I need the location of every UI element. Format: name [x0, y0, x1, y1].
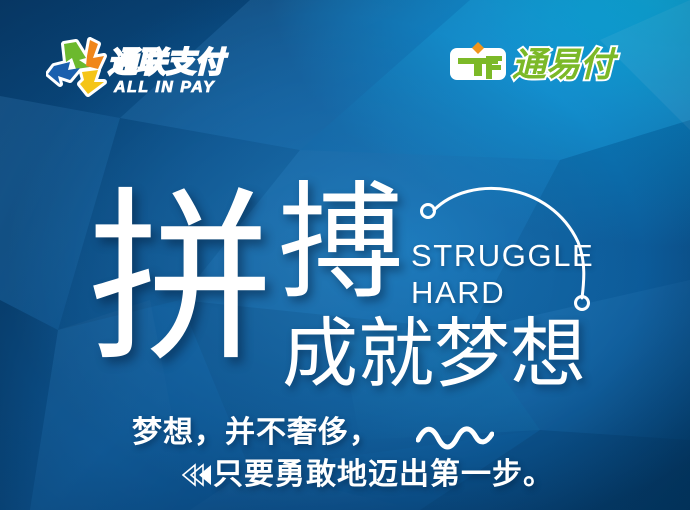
headline-subline: 成就梦想 — [282, 316, 586, 392]
tongyifu-logo: 通易付 通易付 — [448, 38, 648, 90]
arc-decoration — [400, 186, 620, 316]
allinpay-logo: 通联支付 ALL IN PAY — [46, 36, 241, 102]
tagline-line1: 梦想，并不奢侈， — [132, 418, 380, 448]
tagline-line2: 只要勇敢地迈出第一步。 — [213, 460, 554, 490]
headline-primary-char: 拼 — [88, 186, 270, 372]
triangle-chevron-cluster-icon — [182, 462, 220, 488]
allinpay-chinese: 通联支付 — [108, 45, 228, 79]
allinpay-wordmark: 通联支付 ALL IN PAY — [108, 45, 228, 96]
wave-squiggle-icon — [416, 424, 494, 450]
headline-second-char: 搏 — [278, 180, 402, 306]
promo-poster: 通联支付 ALL IN PAY 通易付 通易付 拼 搏 成就梦想 STRUGGL… — [0, 0, 690, 510]
tongyifu-wordmark: 通易付 通易付 — [512, 45, 619, 85]
allinpay-english: ALL IN PAY — [113, 79, 215, 96]
tf-monogram-icon — [450, 42, 506, 80]
arc-start-dot-icon — [422, 205, 435, 218]
arc-path — [434, 188, 584, 298]
pinwheel-arrows-icon — [48, 40, 104, 94]
tongyifu-chinese: 通易付 — [512, 45, 619, 85]
